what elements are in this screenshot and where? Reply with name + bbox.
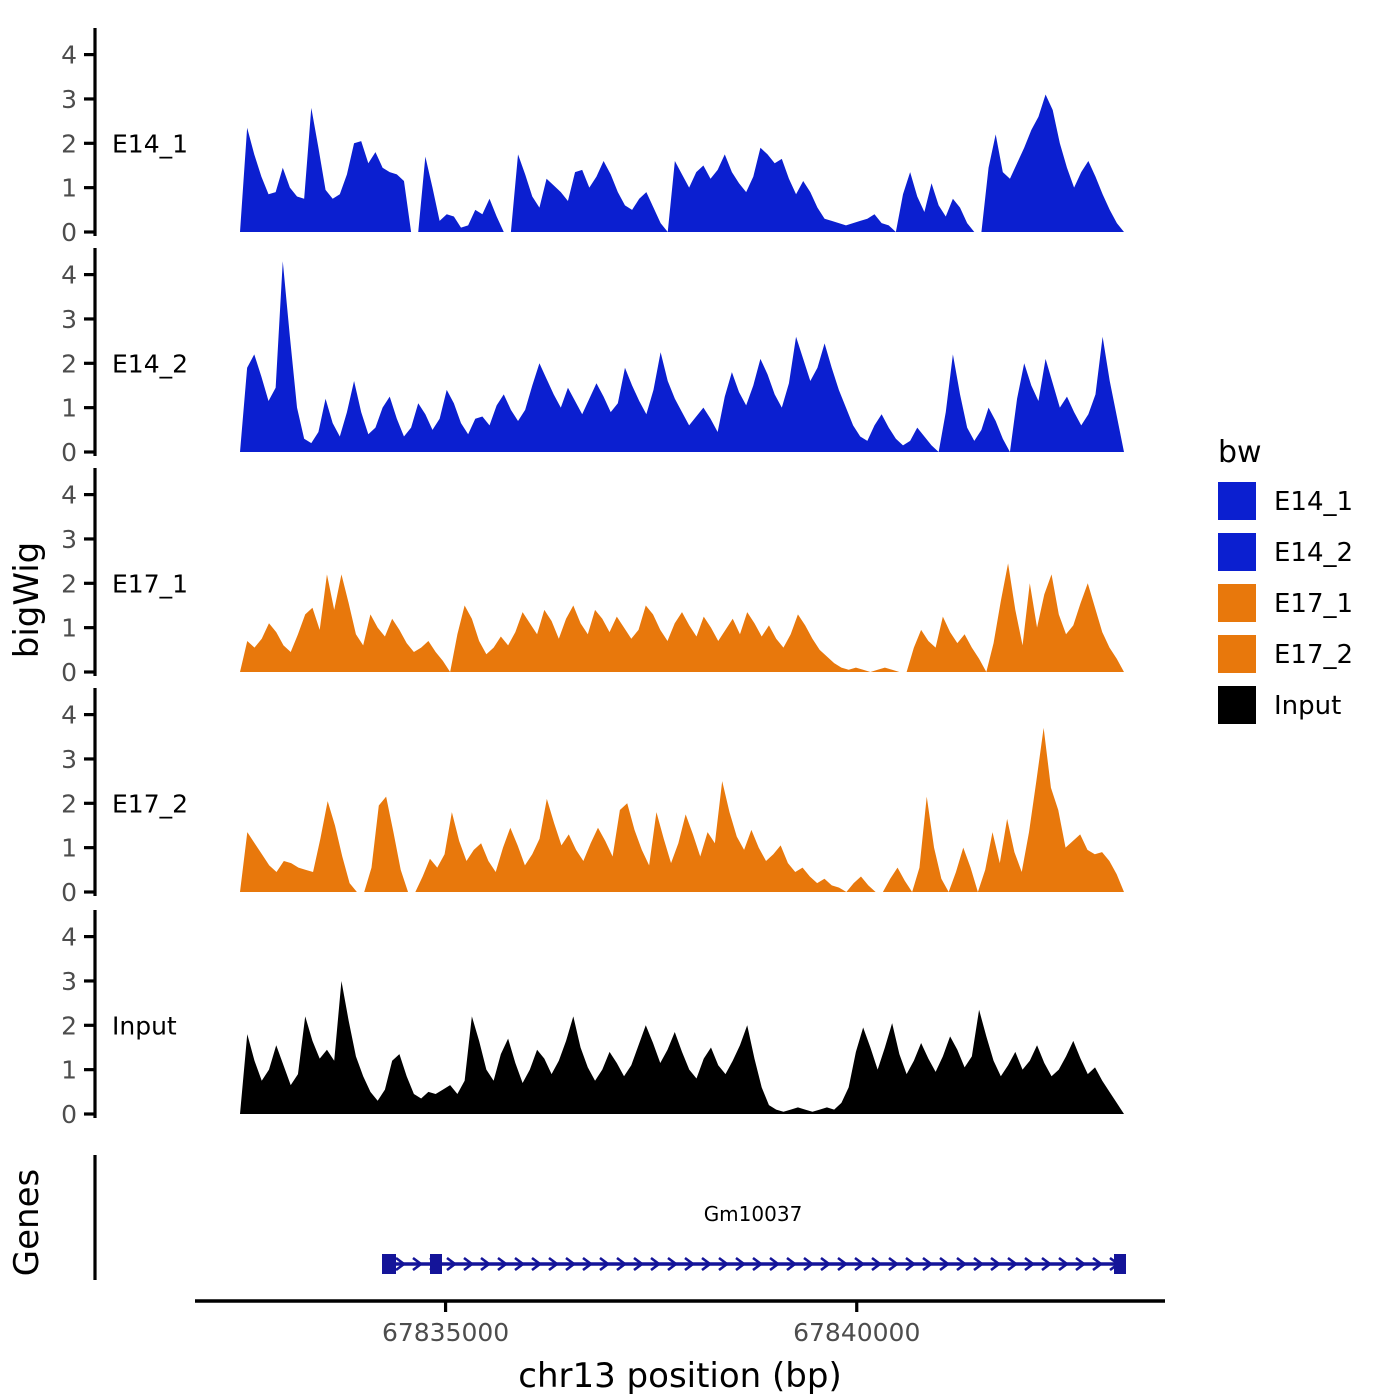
track-label-input: Input: [112, 1011, 177, 1040]
y-tick-label: 2: [61, 129, 77, 158]
track-panel-e17_1: 01234E17_1: [61, 468, 1124, 687]
y-tick-label: 4: [61, 481, 77, 510]
legend-label-input: Input: [1274, 691, 1341, 721]
y-tick-label: 1: [61, 834, 77, 863]
y-axis-title-bigwig: bigWig: [7, 542, 47, 659]
signal-area-e17_2[interactable]: [240, 728, 1124, 892]
y-tick-label: 3: [61, 305, 77, 334]
y-tick-label: 1: [61, 1056, 77, 1085]
track-label-e17_1: E17_1: [112, 569, 188, 598]
legend-label-e14_1: E14_1: [1274, 487, 1353, 517]
y-tick-label: 2: [61, 569, 77, 598]
signal-area-e14_1[interactable]: [240, 95, 1124, 232]
gene-exon-block[interactable]: [430, 1254, 442, 1274]
legend-label-e14_2: E14_2: [1274, 538, 1353, 568]
track-label-e14_1: E14_1: [112, 129, 188, 158]
y-tick-label: 2: [61, 349, 77, 378]
x-tick-label: 67840000: [793, 1318, 920, 1347]
y-tick-label: 2: [61, 789, 77, 818]
y-tick-label: 3: [61, 85, 77, 114]
signal-area-e14_2[interactable]: [240, 261, 1124, 452]
y-tick-label: 4: [61, 701, 77, 730]
legend-swatch-e14_1[interactable]: [1218, 482, 1256, 520]
y-tick-label: 3: [61, 967, 77, 996]
track-panel-e17_2: 01234E17_2: [61, 688, 1124, 907]
y-tick-label: 4: [61, 261, 77, 290]
track-panel-e14_2: 01234E14_2: [61, 248, 1124, 467]
y-tick-label: 0: [61, 438, 77, 467]
legend-swatch-e17_1[interactable]: [1218, 584, 1256, 622]
y-tick-label: 1: [61, 614, 77, 643]
y-tick-label: 0: [61, 1100, 77, 1129]
gene-name-label: Gm10037: [704, 1202, 803, 1226]
legend-swatch-e17_2[interactable]: [1218, 635, 1256, 673]
track-label-e17_2: E17_2: [112, 789, 188, 818]
genes-panel: GenesGm10037: [7, 1155, 1126, 1280]
y-tick-label: 0: [61, 878, 77, 907]
y-tick-label: 4: [61, 41, 77, 70]
y-tick-label: 2: [61, 1011, 77, 1040]
figure-canvas: 01234E14_101234E14_201234E17_101234E17_2…: [0, 0, 1400, 1400]
y-axis-title-genes: Genes: [7, 1169, 47, 1276]
legend-title: bw: [1218, 435, 1262, 470]
y-tick-label: 4: [61, 923, 77, 952]
genome-browser-figure: 01234E14_101234E14_201234E17_101234E17_2…: [0, 0, 1400, 1400]
legend-label-e17_2: E17_2: [1274, 640, 1353, 670]
legend-swatch-input[interactable]: [1218, 686, 1256, 724]
gene-exon-block[interactable]: [382, 1254, 396, 1274]
track-label-e14_2: E14_2: [112, 349, 188, 378]
legend-label-e17_1: E17_1: [1274, 589, 1353, 619]
y-tick-label: 0: [61, 218, 77, 247]
signal-area-input[interactable]: [240, 981, 1124, 1114]
track-panel-input: 01234Input: [61, 910, 1124, 1129]
signal-area-e17_1[interactable]: [240, 563, 1124, 672]
x-axis: 6783500067840000chr13 position (bp): [195, 1301, 1165, 1396]
y-tick-label: 0: [61, 658, 77, 687]
gene-exon-block[interactable]: [1114, 1254, 1126, 1274]
legend: bwE14_1E14_2E17_1E17_2Input: [1218, 435, 1353, 724]
y-tick-label: 3: [61, 745, 77, 774]
legend-swatch-e14_2[interactable]: [1218, 533, 1256, 571]
x-tick-label: 67835000: [382, 1318, 509, 1347]
y-tick-label: 3: [61, 525, 77, 554]
x-axis-title: chr13 position (bp): [518, 1356, 841, 1396]
y-tick-label: 1: [61, 394, 77, 423]
track-panel-e14_1: 01234E14_1: [61, 28, 1124, 247]
y-tick-label: 1: [61, 174, 77, 203]
